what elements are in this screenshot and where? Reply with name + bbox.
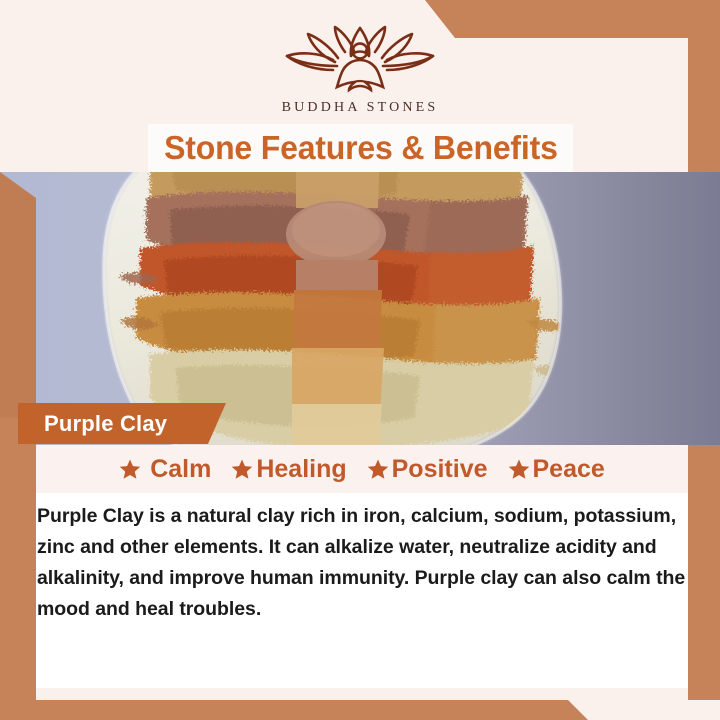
- description-text: Purple Clay is a natural clay rich in ir…: [31, 501, 699, 625]
- star-icon: [119, 458, 141, 480]
- benefit-label: Calm: [150, 455, 211, 484]
- benefits-row: Calm Healing Positive Peace: [36, 445, 688, 493]
- benefit-label: Healing: [256, 455, 346, 484]
- brand-name: BUDDHA STONES: [282, 100, 439, 116]
- benefit-item-healing: Healing: [231, 455, 346, 484]
- star-icon: [508, 458, 530, 480]
- infographic-page: BUDDHA STONES Stone Features & Benefits: [0, 0, 720, 720]
- page-title: Stone Features & Benefits: [164, 129, 558, 167]
- lotus-meditation-icon: [275, 22, 445, 98]
- benefit-item-positive: Positive: [367, 455, 488, 484]
- benefit-label: Peace: [533, 455, 605, 484]
- brand-logo: BUDDHA STONES: [0, 22, 720, 122]
- star-icon: [231, 458, 253, 480]
- product-label-ribbon: Purple Clay: [18, 403, 226, 444]
- benefit-label: Positive: [392, 455, 488, 484]
- description-panel: Purple Clay is a natural clay rich in ir…: [36, 493, 688, 688]
- title-banner: Stone Features & Benefits: [148, 124, 573, 172]
- product-label-text: Purple Clay: [44, 411, 167, 437]
- benefit-item-calm: Calm: [119, 455, 211, 484]
- benefit-item-peace: Peace: [508, 455, 605, 484]
- star-icon: [367, 458, 389, 480]
